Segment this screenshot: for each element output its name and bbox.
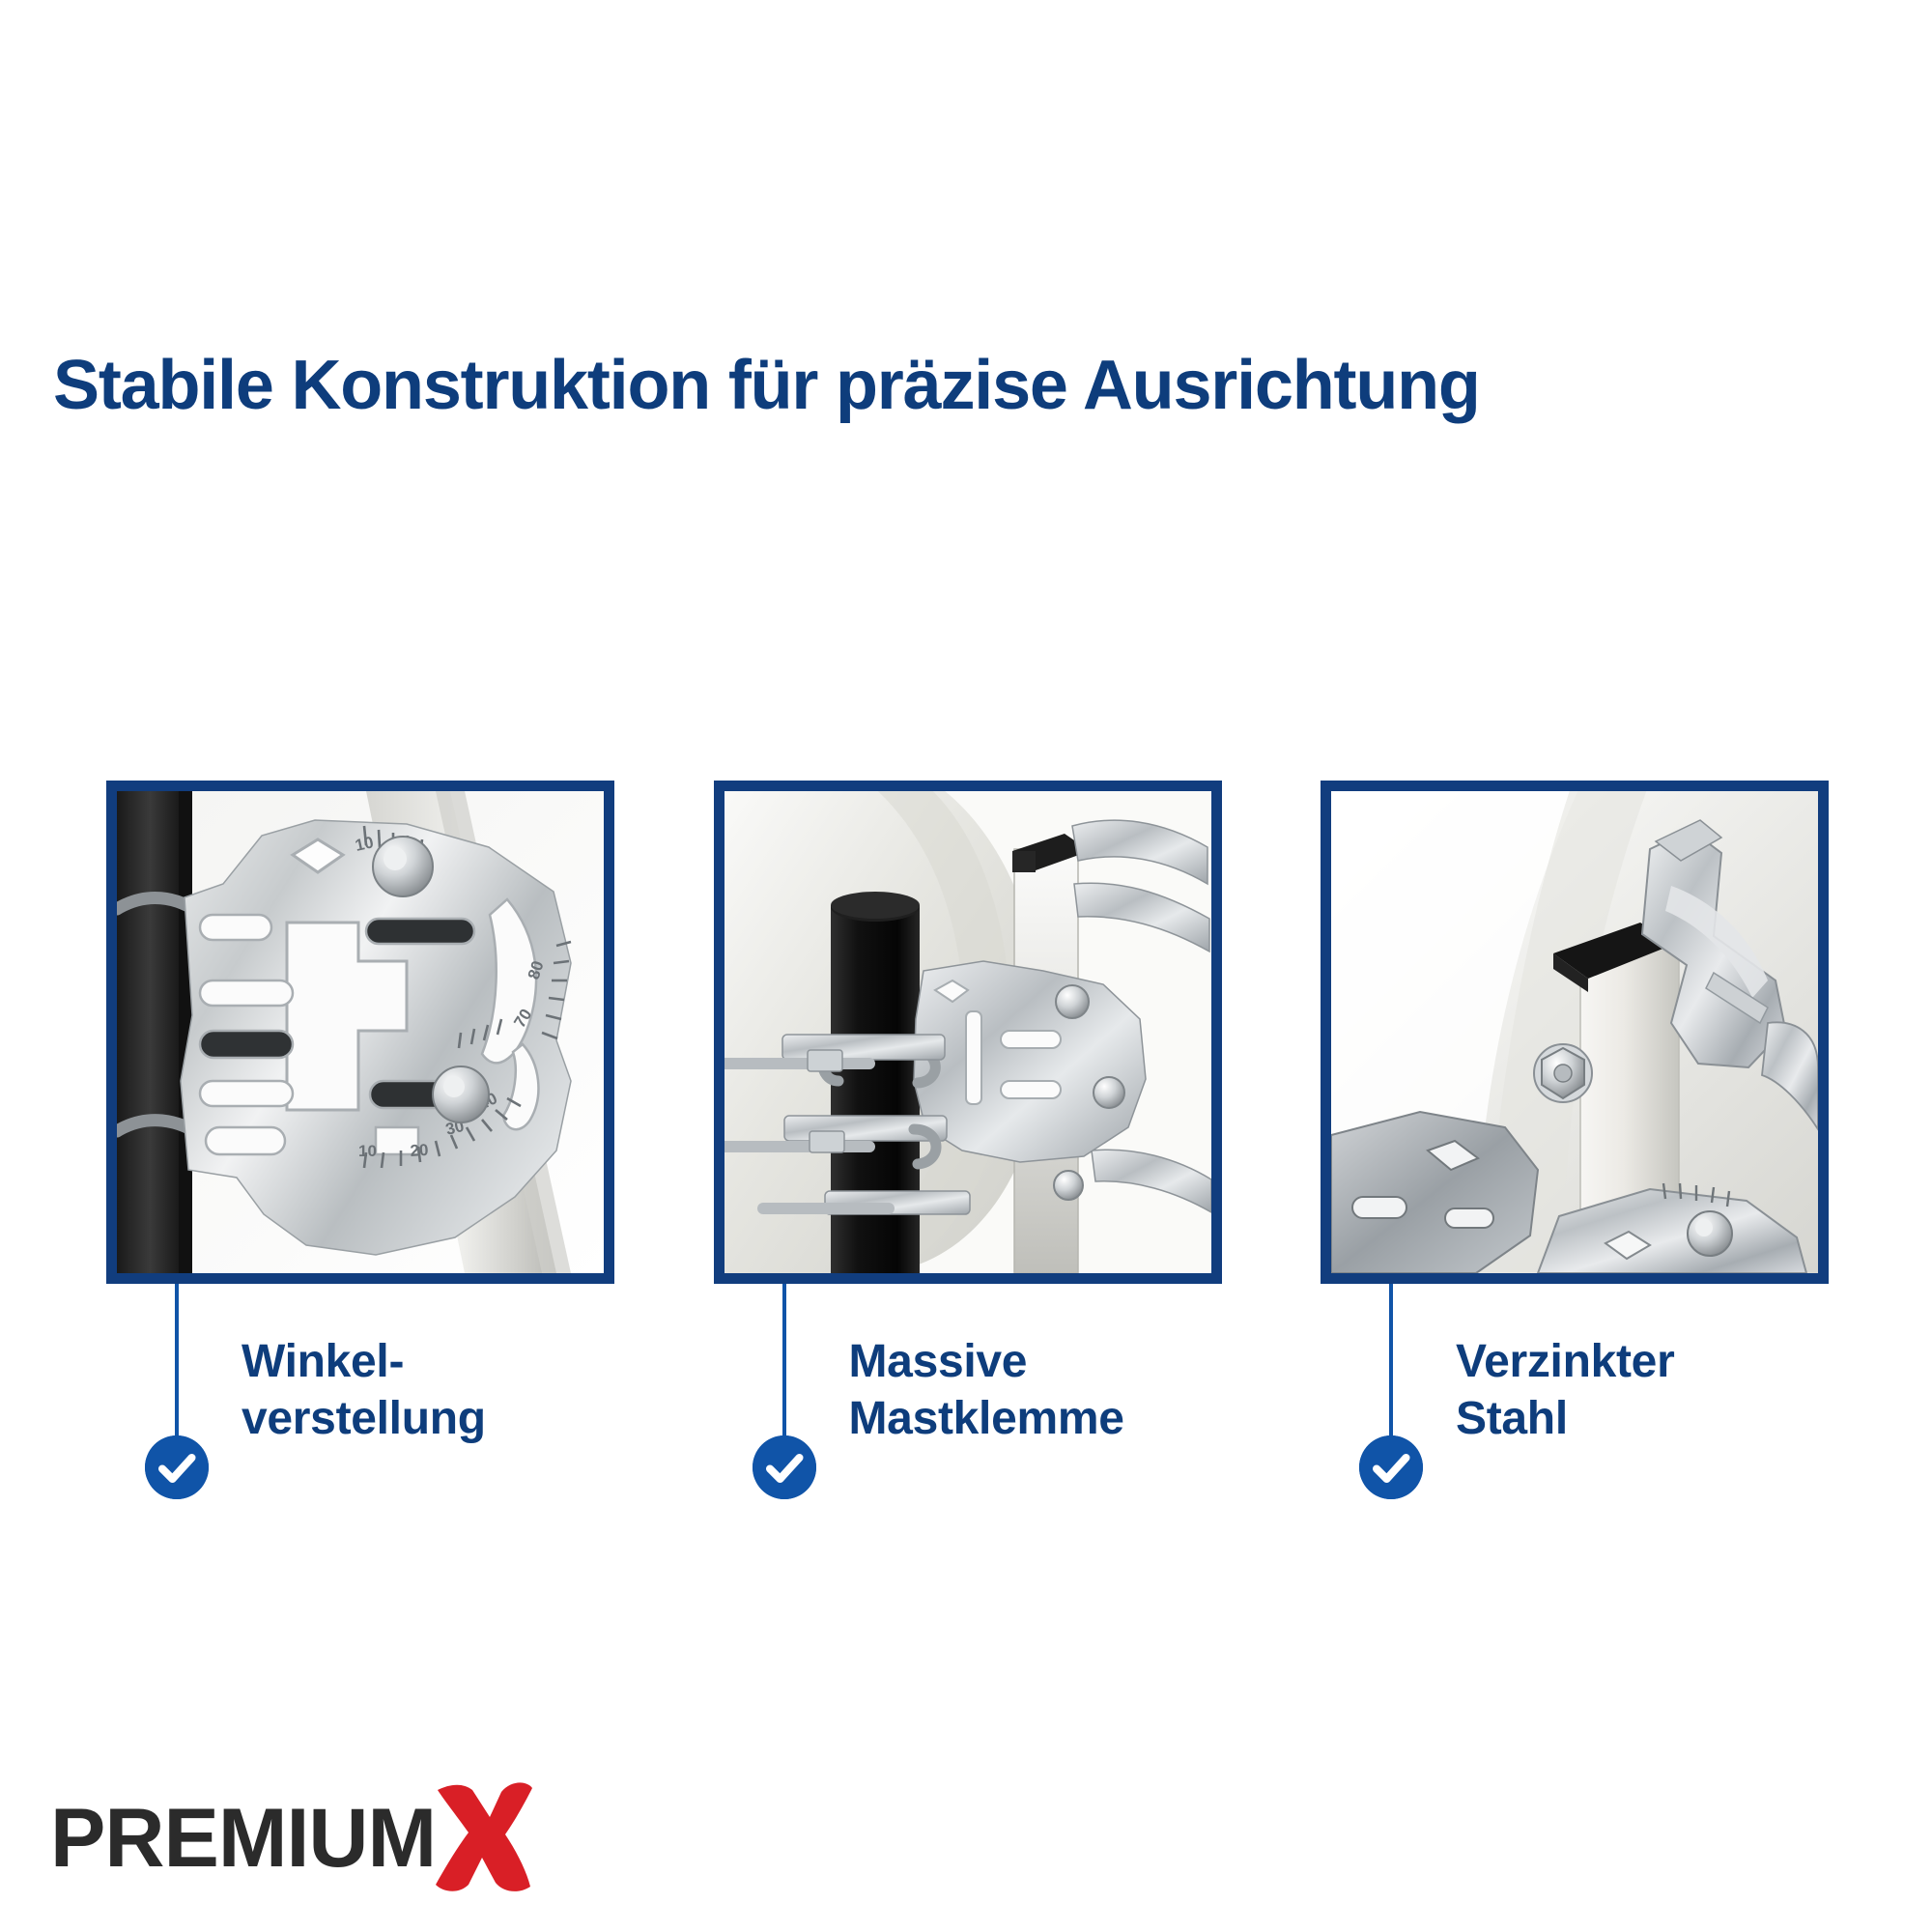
check-circle-icon-2 bbox=[753, 1435, 816, 1499]
photo-frame-winkelverstellung: 10 80 70 40 30 20 10 bbox=[106, 781, 614, 1284]
photo-winkelverstellung: 10 80 70 40 30 20 10 bbox=[117, 791, 604, 1273]
photo-angle-bracket-illustration: 10 80 70 40 30 20 10 bbox=[117, 791, 604, 1273]
connector-line-1 bbox=[175, 1284, 179, 1443]
brand-logo-wordmark: PREMIUM bbox=[50, 1797, 436, 1880]
page-title: Stabile Konstruktion für präzise Ausrich… bbox=[53, 350, 1889, 423]
feature-caption-3-line1: Verzinkter bbox=[1456, 1334, 1861, 1391]
photo-frame-verzinkter-stahl bbox=[1321, 781, 1829, 1284]
photo-mastklemme bbox=[724, 791, 1211, 1273]
photo-galvanised-steel-illustration bbox=[1331, 791, 1818, 1273]
feature-caption-3-line2: Stahl bbox=[1456, 1391, 1861, 1448]
feature-caption-1-line2: verstellung bbox=[241, 1391, 647, 1448]
feature-caption-2-line1: Massive bbox=[849, 1334, 1255, 1391]
check-circle-icon-1 bbox=[145, 1435, 209, 1499]
feature-item-winkelverstellung: 10 80 70 40 30 20 10 bbox=[106, 781, 614, 1284]
feature-item-verzinkter-stahl: Verzinkter Stahl bbox=[1321, 781, 1829, 1284]
brand-logo-x-mark bbox=[430, 1778, 534, 1899]
svg-text:10: 10 bbox=[354, 833, 375, 855]
check-circle-icon-3 bbox=[1359, 1435, 1423, 1499]
feature-caption-2: Massive Mastklemme bbox=[849, 1334, 1255, 1447]
feature-caption-2-line2: Mastklemme bbox=[849, 1391, 1255, 1448]
photo-mast-clamp-illustration bbox=[724, 791, 1211, 1273]
feature-caption-1: Winkel- verstellung bbox=[241, 1334, 647, 1447]
photo-frame-mastklemme bbox=[714, 781, 1222, 1284]
feature-row: 10 80 70 40 30 20 10 bbox=[106, 781, 1829, 1284]
feature-caption-3: Verzinkter Stahl bbox=[1456, 1334, 1861, 1447]
feature-item-mastklemme: Massive Mastklemme bbox=[714, 781, 1222, 1284]
connector-line-2 bbox=[782, 1284, 786, 1443]
photo-verzinkter-stahl bbox=[1331, 791, 1818, 1273]
brand-logo: PREMIUM bbox=[50, 1776, 534, 1901]
feature-caption-1-line1: Winkel- bbox=[241, 1334, 647, 1391]
connector-line-3 bbox=[1389, 1284, 1393, 1443]
svg-text:10: 10 bbox=[358, 1142, 377, 1160]
svg-text:20: 20 bbox=[410, 1141, 429, 1160]
